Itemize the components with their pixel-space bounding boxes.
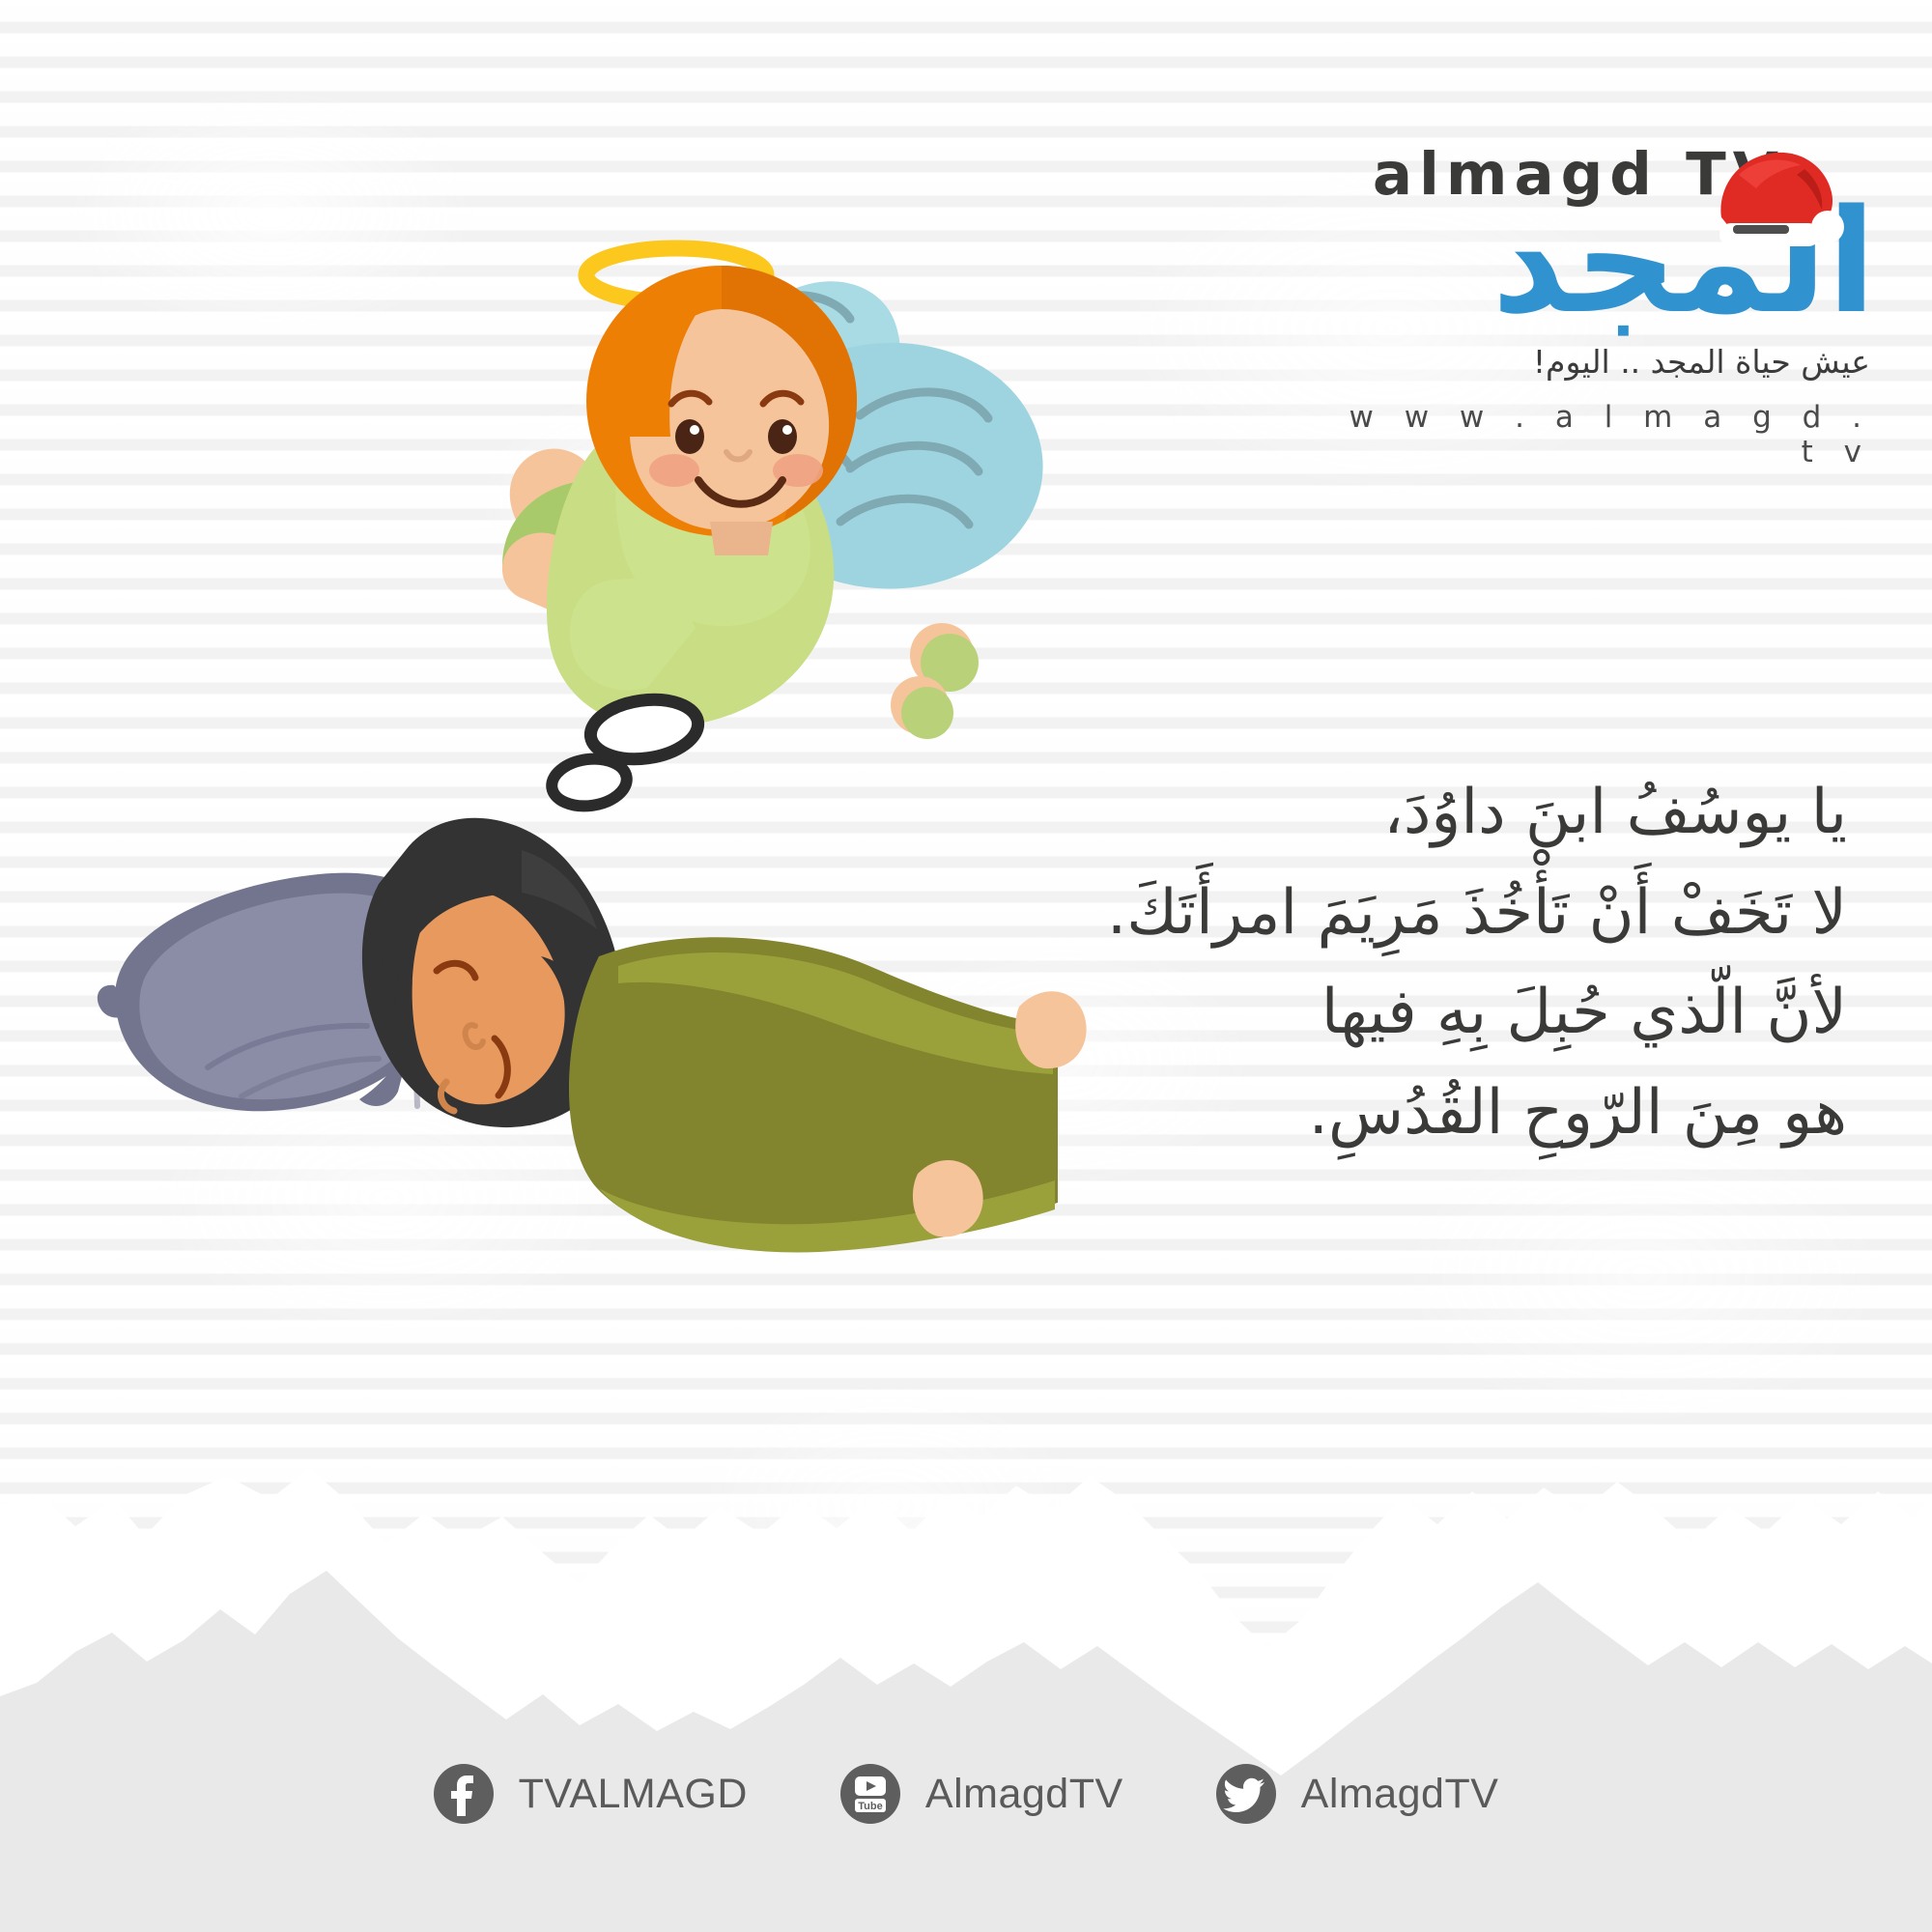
brand-logo[interactable]: almagd TV المجد عيش حياة المجد .. اليوم!… xyxy=(1335,145,1876,469)
social-links: TVALMAGD Tube AlmagdTV xyxy=(0,1764,1932,1824)
facebook-handle: TVALMAGD xyxy=(519,1771,748,1818)
social-item-youtube[interactable]: Tube AlmagdTV xyxy=(840,1764,1123,1824)
verse-text: يا يوسُفُ ابنَ داوُدَ، لا تَخَفْ أَنْ تَ… xyxy=(978,763,1847,1164)
logo-tagline: عيش حياة المجد .. اليوم! xyxy=(1335,343,1876,381)
poster-canvas: almagd TV المجد عيش حياة المجد .. اليوم!… xyxy=(0,0,1932,1932)
footer-region: TVALMAGD Tube AlmagdTV xyxy=(0,1526,1932,1932)
youtube-handle: AlmagdTV xyxy=(925,1771,1123,1818)
logo-website[interactable]: w w w . a l m a g d . t v xyxy=(1335,400,1876,469)
svg-text:Tube: Tube xyxy=(858,1801,882,1812)
social-item-twitter[interactable]: AlmagdTV xyxy=(1216,1764,1499,1824)
twitter-icon[interactable] xyxy=(1216,1764,1276,1824)
social-item-facebook[interactable]: TVALMAGD xyxy=(434,1764,748,1824)
logo-arabic-text: المجد xyxy=(1492,190,1876,333)
verse-line-2: لا تَخَفْ أَنْ تَأْخُذَ مَرِيَمَ امرأَتَ… xyxy=(978,864,1847,964)
verse-line-1: يا يوسُفُ ابنَ داوُدَ، xyxy=(978,763,1847,864)
twitter-handle: AlmagdTV xyxy=(1301,1771,1499,1818)
verse-line-3: لأنَّ الّذي حُبِلَ بِهِ فيها xyxy=(978,963,1847,1064)
logo-arabic-wrap: المجد xyxy=(1335,206,1876,333)
verse-line-4: هو مِنَ الرّوحِ القُدُسِ. xyxy=(978,1064,1847,1164)
youtube-icon[interactable]: Tube xyxy=(840,1764,900,1824)
facebook-icon[interactable] xyxy=(434,1764,494,1824)
